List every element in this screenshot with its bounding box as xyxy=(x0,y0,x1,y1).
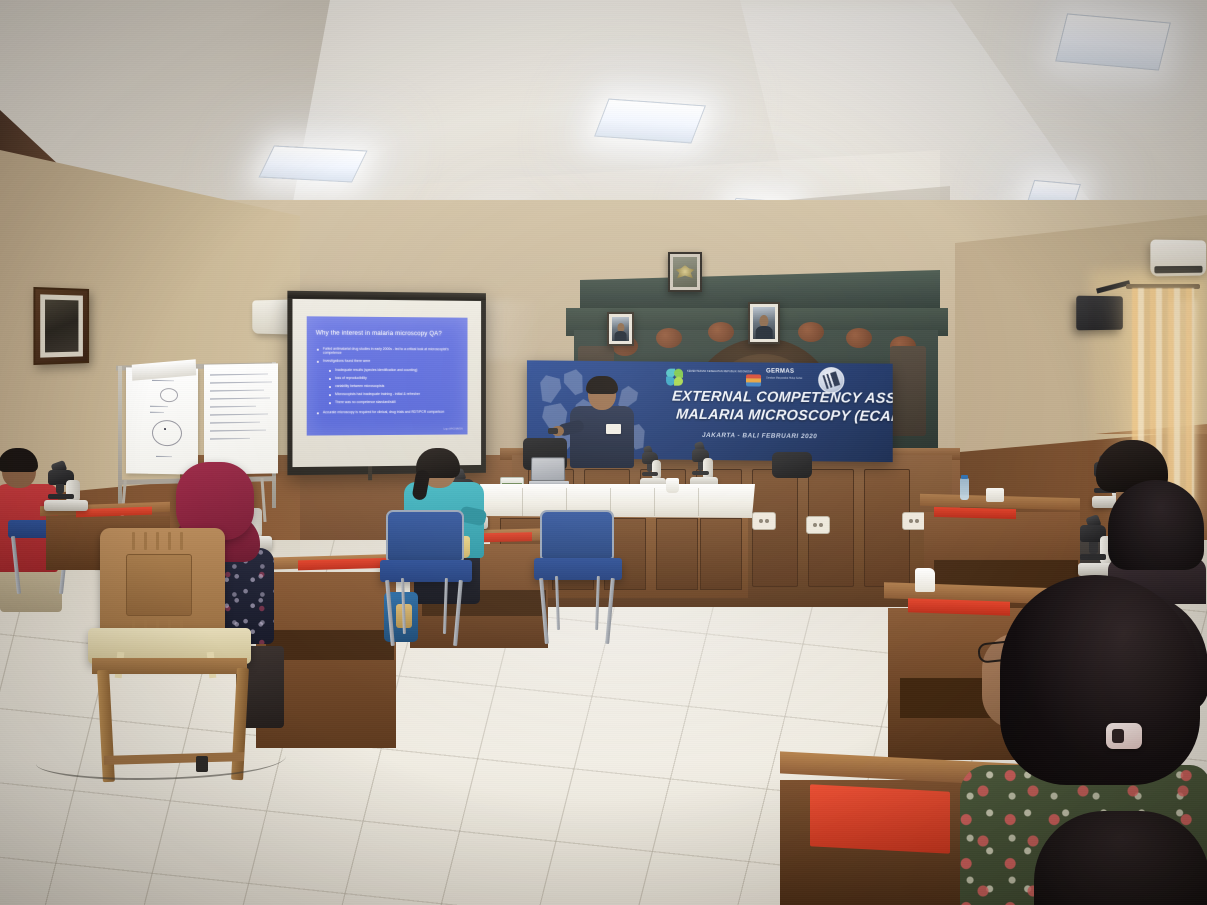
chair-leg xyxy=(605,578,615,644)
chair-apron xyxy=(92,658,247,674)
slide-bullet: Accurate microscopy is required for clin… xyxy=(323,410,454,415)
chair-leg xyxy=(539,578,549,644)
slide-bullet: Inadequate results (species identificati… xyxy=(335,368,456,372)
red-folder[interactable] xyxy=(298,558,392,571)
garuda-bird-icon xyxy=(676,265,695,280)
garuda-emblem-plaque xyxy=(673,257,697,287)
blue-chair-1[interactable] xyxy=(380,510,472,648)
chair-seat xyxy=(534,558,622,580)
portrait-photo xyxy=(612,317,629,341)
chair-leg xyxy=(453,580,463,646)
chair-backrest xyxy=(386,510,464,562)
tissue-box-right xyxy=(986,488,1004,502)
picture-mat xyxy=(40,294,83,357)
air-conditioner-vent xyxy=(1154,266,1202,274)
wall-speaker xyxy=(1076,296,1123,331)
right-wall-air-conditioner xyxy=(1150,240,1206,277)
participant-hair xyxy=(0,448,38,472)
bottle-cap xyxy=(961,475,968,479)
presentation-slide: Why the interest in malaria microscopy Q… xyxy=(307,316,468,435)
ceiling-panel-light-2 xyxy=(594,99,706,144)
germas-logo-sublabel: Gerakan Masyarakat Hidup Sehat xyxy=(766,377,802,380)
blue-chair-2[interactable] xyxy=(534,510,622,646)
presenter-torso xyxy=(570,406,634,468)
dark-bag-right xyxy=(772,452,812,478)
carving-medallion xyxy=(708,322,734,342)
slide-bullet: variability between microscopists xyxy=(335,384,456,388)
germas-mark xyxy=(746,382,761,386)
wall-socket[interactable] xyxy=(806,516,830,534)
banner-subtitle: JAKARTA - BALI FEBRUARI 2020 xyxy=(702,432,817,440)
carving-medallion xyxy=(656,328,682,348)
chair-leg xyxy=(443,578,448,634)
microscope xyxy=(690,442,720,488)
carving-medallion xyxy=(846,328,872,348)
table-panel xyxy=(700,518,742,590)
projection-screen-stand xyxy=(368,466,372,480)
microscope xyxy=(44,462,90,510)
presenter-name-badge xyxy=(606,424,621,434)
hair-clip-notch xyxy=(1112,729,1124,743)
slide-title: Why the interest in malaria microscopy Q… xyxy=(316,330,462,338)
participant-hair-lower xyxy=(1034,811,1207,905)
chair-backrest xyxy=(100,528,225,636)
flipchart-diagram-dot xyxy=(164,428,166,430)
carving-medallion xyxy=(798,322,824,342)
flipchart-sheet-right xyxy=(204,363,278,474)
table-panel xyxy=(656,518,698,590)
desk-shelf xyxy=(266,630,394,660)
red-folder[interactable] xyxy=(810,784,950,853)
flipchart-sheet-left xyxy=(126,367,198,474)
circle-emblem-mark xyxy=(822,371,840,389)
portrait-body xyxy=(614,331,627,341)
garuda-emblem-frame xyxy=(668,252,702,292)
projection-screen: Why the interest in malaria microscopy Q… xyxy=(287,291,486,475)
participant-batik-foreground xyxy=(960,575,1207,905)
flipchart-left-post xyxy=(118,366,122,508)
slide-bullet: Investigations found there were xyxy=(323,359,454,364)
slide-bullet: Failed antimalarial drug studies in earl… xyxy=(323,347,454,356)
water-bottle[interactable] xyxy=(960,478,969,500)
wall-socket[interactable] xyxy=(752,512,776,530)
flipchart-diagram-circle-small xyxy=(160,388,178,402)
chair-leg xyxy=(555,576,560,630)
training-room-photo: KEMENTERIAN KESEHATAN REPUBLIK INDONESIA… xyxy=(0,0,1207,905)
germas-logo: GERMAS Gerakan Masyarakat Hidup Sehat xyxy=(746,368,808,391)
slide-credit: Logo WHO/MMSN xyxy=(443,428,462,431)
glyph xyxy=(536,374,563,405)
kemenkes-logo-label: KEMENTERIAN KESEHATAN REPUBLIK INDONESIA xyxy=(687,370,752,374)
slide-bullet: loss of reproducibility xyxy=(335,376,456,380)
projection-screen-canvas: Why the interest in malaria microscopy Q… xyxy=(292,299,481,467)
presenter-hair xyxy=(586,376,618,394)
chair-leg xyxy=(595,576,600,630)
banner-title-line-1: EXTERNAL COMPETENCY ASSESMENT xyxy=(671,389,892,407)
chair-back-panel xyxy=(126,554,192,616)
chair-leg xyxy=(401,578,406,634)
cable-plug xyxy=(196,756,208,772)
white-cup xyxy=(666,478,679,493)
hair-clip xyxy=(1106,723,1142,749)
slide-bullet: There was no competence standard/skill xyxy=(335,400,456,405)
portrait-photo xyxy=(753,307,775,339)
ceiling-panel-light-1 xyxy=(258,145,367,182)
presenter xyxy=(566,378,638,466)
flipchart-diagram-circle-large xyxy=(152,420,182,447)
slide-bullet: Microscopists had inadequate training - … xyxy=(335,392,456,396)
participant-hair xyxy=(1108,480,1204,570)
official-portrait-left xyxy=(607,312,634,346)
chair-backrest xyxy=(540,510,614,560)
laptop-screen xyxy=(531,457,565,481)
tissue-pop-up xyxy=(915,568,935,592)
germas-logo-label: GERMAS xyxy=(766,369,794,375)
ceiling-panel-light-4 xyxy=(1055,13,1171,70)
chair-leg xyxy=(385,580,395,646)
official-portrait-right xyxy=(748,302,780,344)
presentation-clicker[interactable] xyxy=(548,428,558,434)
microscope xyxy=(640,446,668,488)
laptop[interactable] xyxy=(529,457,569,487)
participant-hair xyxy=(1000,575,1200,785)
picture-artwork xyxy=(45,300,78,353)
portrait-body xyxy=(756,326,773,339)
carving-bracket-right xyxy=(890,346,926,436)
framed-picture xyxy=(33,287,89,365)
chair-leg xyxy=(11,536,21,594)
banner-title-line-2: MALARIA MICROSCOPY (ECAMM) xyxy=(675,407,892,425)
chair-seat xyxy=(380,560,472,582)
portrait-head xyxy=(759,315,768,327)
kemenkes-logo xyxy=(666,369,684,387)
